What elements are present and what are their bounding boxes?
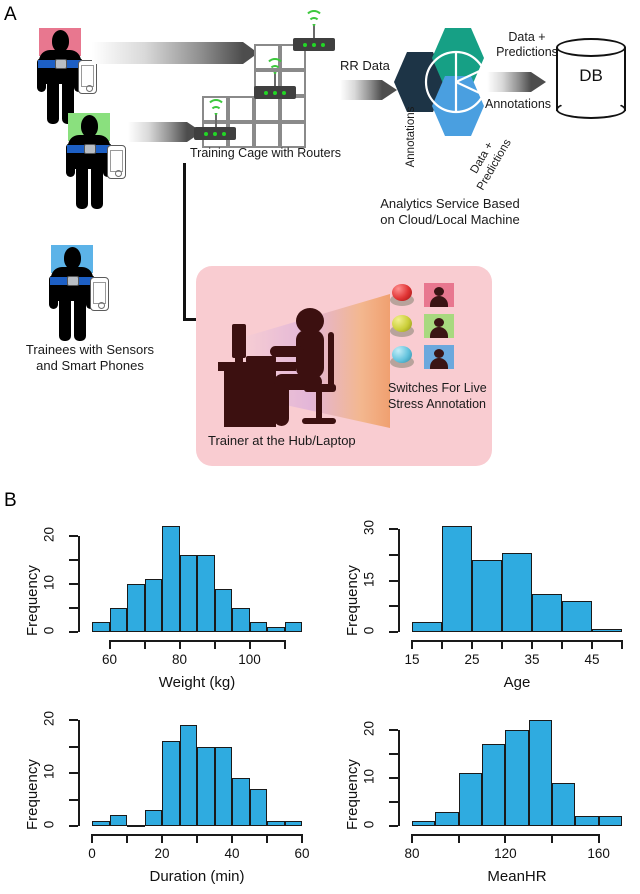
x-axis-tick	[109, 640, 111, 649]
x-axis-tick-label: 0	[70, 846, 114, 861]
histogram-bar	[285, 821, 303, 826]
histogram-bar	[250, 622, 268, 632]
chart-meanhr: 8012016001020FrequencyMeanHR	[326, 702, 636, 892]
histogram-bar	[92, 821, 110, 826]
y-axis-tick	[389, 605, 398, 607]
wifi-signal-icon-2	[265, 60, 285, 76]
x-axis-tick	[504, 834, 506, 843]
x-axis-tick	[531, 640, 533, 649]
x-axis-tick-label: 100	[228, 652, 272, 667]
y-axis-tick-label: 20	[42, 706, 57, 732]
wifi-signal-icon-1	[304, 12, 324, 28]
cage-cell	[228, 96, 254, 122]
y-axis-tick-label: 10	[42, 759, 57, 785]
x-axis-tick	[144, 640, 146, 649]
y-axis-title: Frequency	[24, 565, 41, 636]
trainee-2-leg-right	[91, 165, 103, 209]
x-axis-tick-label: 80	[158, 652, 202, 667]
y-axis-tick	[69, 607, 78, 609]
trainee-1-head	[52, 30, 69, 52]
x-axis-tick	[284, 640, 286, 649]
avatar-red	[424, 283, 454, 307]
y-axis-tick-label: 0	[362, 618, 377, 644]
histogram-bar	[592, 629, 622, 632]
y-axis-tick-label: 10	[42, 569, 57, 595]
switch-red[interactable]	[390, 284, 414, 306]
x-axis-tick-label: 80	[390, 846, 434, 861]
avatar-green	[424, 314, 454, 338]
y-axis-tick	[389, 777, 398, 779]
histogram-bar	[459, 773, 482, 826]
histogram-bar	[110, 815, 128, 826]
y-axis-line	[78, 536, 80, 632]
chart-age: 1525354501530FrequencyAge	[326, 508, 636, 698]
arrow-cage-to-analytics	[340, 80, 396, 100]
x-axis-tick-label: 25	[450, 652, 494, 667]
y-axis-tick	[69, 799, 78, 801]
avatar-blue	[424, 345, 454, 369]
trainer-shin	[274, 378, 289, 426]
x-axis-tick-label: 40	[210, 846, 254, 861]
avatar-blue-shoulders	[430, 358, 448, 369]
smartphone-icon-2	[107, 145, 126, 179]
y-axis-tick	[69, 746, 78, 748]
histogram-bar	[110, 608, 128, 632]
histogram-bar	[215, 747, 233, 827]
x-axis-tick	[411, 640, 413, 649]
histogram-bar	[145, 579, 163, 632]
x-axis-tick	[551, 834, 553, 843]
x-axis-tick-label: 60	[88, 652, 132, 667]
annotations-label-right: Annotations	[485, 97, 551, 112]
x-axis-tick	[621, 640, 623, 649]
x-axis-tick	[161, 834, 163, 843]
x-axis-tick	[471, 640, 473, 649]
histogram-bar	[472, 560, 502, 632]
router-icon-2	[254, 86, 296, 99]
x-axis-tick-label: 120	[483, 846, 527, 861]
x-axis-tick	[598, 834, 600, 843]
database-cylinder: DB	[556, 38, 626, 120]
chair-base	[302, 418, 336, 424]
histogram-bar	[562, 601, 592, 632]
y-axis-tick-label: 30	[362, 515, 377, 541]
trainee-3-head	[64, 247, 81, 269]
histogram-bar	[285, 622, 303, 632]
analytics-service-caption: Analytics Service Based on Cloud/Local M…	[350, 196, 550, 228]
y-axis-tick	[389, 631, 398, 633]
histogram-bar	[127, 825, 145, 827]
histogram-bar	[412, 622, 442, 632]
x-axis-tick	[214, 640, 216, 649]
y-axis-tick	[69, 631, 78, 633]
x-axis-title: Weight (kg)	[92, 674, 302, 691]
chair-back	[328, 332, 334, 390]
y-axis-tick	[389, 753, 398, 755]
y-axis-line	[398, 529, 400, 632]
histogram-bar	[162, 741, 180, 826]
avatar-red-shoulders	[430, 296, 448, 307]
x-axis-tick-label: 160	[577, 846, 621, 861]
y-axis-tick	[389, 801, 398, 803]
chart-duration: 020406001020FrequencyDuration (min)	[6, 702, 316, 892]
y-axis-tick-label: 0	[42, 618, 57, 644]
arrow-trainee2-to-cage	[128, 122, 202, 142]
switch-yellow[interactable]	[390, 315, 414, 337]
x-axis-tick	[501, 640, 503, 649]
cage-caption: Training Cage with Routers	[190, 146, 370, 161]
chart-weight: 608010001020FrequencyWeight (kg)	[6, 508, 316, 698]
avatar-green-head	[434, 318, 444, 327]
histogram-bar	[529, 720, 552, 826]
y-axis-line	[78, 720, 80, 826]
x-axis-tick	[266, 834, 268, 843]
histogram-bar	[267, 627, 285, 632]
histogram-bar	[482, 744, 505, 826]
histogram-bar	[442, 526, 472, 632]
panel-a-system-diagram: A Trainees with Sensors	[0, 0, 640, 490]
smartphone-icon-3	[90, 277, 109, 311]
x-axis-tick	[561, 640, 563, 649]
y-axis-tick	[69, 583, 78, 585]
panel-a-label: A	[4, 4, 17, 26]
db-top-ellipse	[556, 38, 626, 57]
histogram-bar	[599, 816, 622, 826]
desk-top	[218, 362, 296, 371]
histogram-bar	[532, 594, 562, 632]
trainer-hub-box: Trainer at the Hub/Laptop Switches For L…	[196, 266, 492, 466]
histogram-bar	[412, 821, 435, 826]
x-axis-line	[110, 640, 285, 642]
x-axis-title: Duration (min)	[92, 868, 302, 885]
x-axis-tick	[458, 834, 460, 843]
y-axis-tick	[69, 535, 78, 537]
x-axis-tick	[591, 640, 593, 649]
switch-yellow-cap	[392, 315, 412, 332]
desk-body	[224, 371, 276, 427]
y-axis-tick-label: 0	[362, 812, 377, 838]
x-axis-tick-label: 45	[570, 652, 614, 667]
avatar-green-shoulders	[430, 327, 448, 338]
histogram-bar	[502, 553, 532, 632]
panel-b-histograms: B 608010001020FrequencyWeight (kg) 15253…	[0, 490, 640, 894]
y-axis-title: Frequency	[24, 759, 41, 830]
chair-post	[316, 392, 322, 420]
smartphone-icon-1	[78, 60, 97, 94]
histogram-bar	[162, 526, 180, 632]
y-axis-tick	[69, 772, 78, 774]
y-axis-tick	[389, 580, 398, 582]
histogram-bar	[435, 812, 458, 826]
histogram-bar	[267, 821, 285, 826]
trainee-3-leg-right	[74, 297, 86, 341]
rr-data-label: RR Data	[340, 58, 390, 74]
db-bottom-ellipse	[556, 100, 626, 119]
histogram-bar	[145, 810, 163, 826]
monitor-screen	[232, 324, 246, 358]
keyboard	[246, 356, 276, 363]
cage-to-hub-connector	[183, 163, 186, 321]
cage-cell	[254, 96, 280, 122]
y-axis-tick-label: 10	[362, 763, 377, 789]
trainer-arm	[270, 346, 304, 357]
db-label: DB	[556, 66, 626, 86]
histogram-bar	[197, 555, 215, 632]
arrow-analytics-to-db	[487, 72, 545, 92]
x-axis-tick	[231, 834, 233, 843]
y-axis-tick-label: 15	[362, 566, 377, 592]
x-axis-tick	[179, 640, 181, 649]
y-axis-tick-label: 20	[362, 715, 377, 741]
x-axis-title: MeanHR	[412, 868, 622, 885]
y-axis-title: Frequency	[344, 565, 361, 636]
avatar-blue-head	[434, 349, 444, 358]
histogram-bar	[127, 584, 145, 632]
y-axis-tick	[389, 729, 398, 731]
y-axis-tick	[389, 528, 398, 530]
x-axis-title: Age	[412, 674, 622, 691]
chair-seat	[304, 384, 336, 392]
histogram-bar	[197, 747, 215, 827]
annotations-label-left: Annotations	[404, 92, 418, 182]
histogram-bar	[215, 589, 233, 632]
trainee-2-sensor-icon	[84, 144, 96, 154]
trainee-2-leg-left	[76, 165, 88, 209]
x-axis-tick	[249, 640, 251, 649]
y-axis-tick	[69, 559, 78, 561]
histogram-bar	[505, 730, 528, 826]
x-axis-tick	[126, 834, 128, 843]
histogram-bar	[575, 816, 598, 826]
x-axis-tick	[196, 834, 198, 843]
wifi-signal-icon-3	[206, 101, 226, 117]
histogram-bar	[552, 783, 575, 826]
y-axis-tick	[389, 825, 398, 827]
x-axis-tick-label: 35	[510, 652, 554, 667]
histogram-bar	[232, 608, 250, 632]
trainee-1-leg-left	[47, 80, 59, 124]
histogram-bar	[232, 778, 250, 826]
trainee-1-sensor-icon	[55, 59, 67, 69]
switch-red-cap	[392, 284, 412, 301]
cage-cell	[280, 122, 306, 148]
switches-caption: Switches For Live Stress Annotation	[388, 381, 487, 412]
y-axis-tick	[69, 825, 78, 827]
histogram-bar	[92, 622, 110, 632]
y-axis-tick	[69, 719, 78, 721]
histogram-bar	[180, 725, 198, 826]
cage-cell	[254, 122, 280, 148]
histogram-bar	[180, 555, 198, 632]
histogram-bar	[250, 789, 268, 826]
router-icon-1	[293, 38, 335, 51]
y-axis-tick-label: 20	[42, 521, 57, 547]
x-axis-tick	[301, 834, 303, 843]
trainee-3-leg-left	[59, 297, 71, 341]
trainee-2-head	[81, 115, 98, 137]
switch-blue-cap	[392, 346, 412, 363]
trainees-caption: Trainees with Sensors and Smart Phones	[5, 342, 175, 374]
cage-cell	[280, 96, 306, 122]
x-axis-tick	[411, 834, 413, 843]
avatar-red-head	[434, 287, 444, 296]
y-axis-title: Frequency	[344, 759, 361, 830]
x-axis-tick-label: 15	[390, 652, 434, 667]
router-icon-3	[194, 127, 236, 140]
y-axis-tick	[389, 554, 398, 556]
y-axis-line	[398, 730, 400, 826]
switch-blue[interactable]	[390, 346, 414, 368]
trainer-caption: Trainer at the Hub/Laptop	[208, 433, 356, 449]
x-axis-tick	[91, 834, 93, 843]
trainee-3-sensor-icon	[67, 276, 79, 286]
x-axis-tick-label: 20	[140, 846, 184, 861]
x-axis-tick-label: 60	[280, 846, 324, 861]
y-axis-tick-label: 0	[42, 812, 57, 838]
x-axis-tick	[441, 640, 443, 649]
